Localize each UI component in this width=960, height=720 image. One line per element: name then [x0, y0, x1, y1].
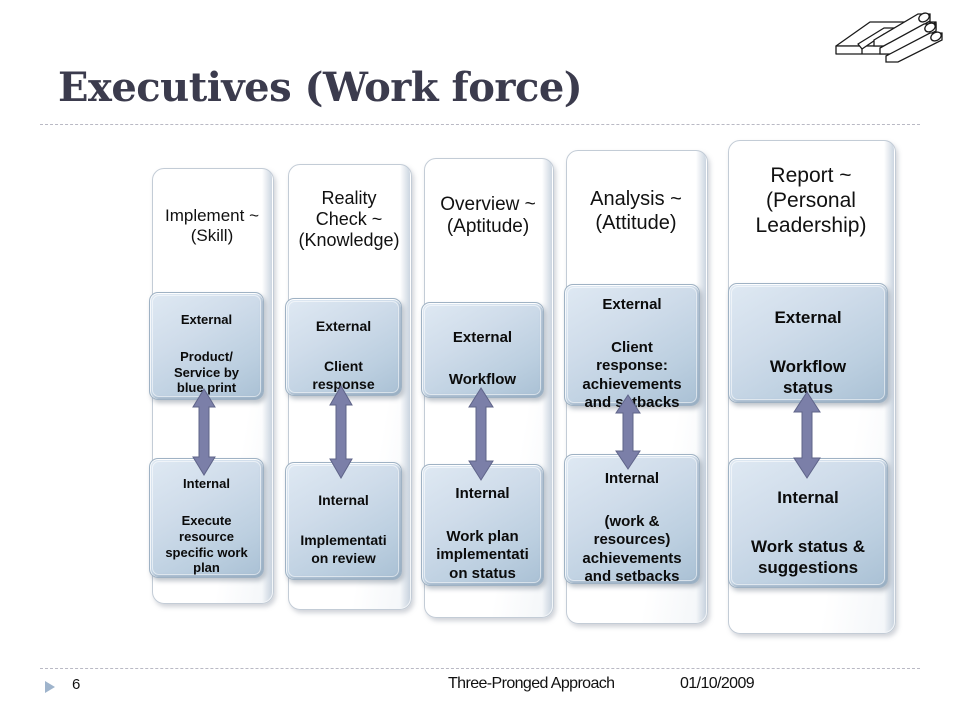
internal-box-overview[interactable]: Internal Work plan implementati on statu…: [421, 464, 544, 586]
internal-body: Execute resource specific work plan: [165, 513, 247, 576]
internal-box-text: Internal Work plan implementati on statu…: [433, 467, 532, 583]
double-headed-vertical-arrow-icon: [467, 386, 495, 482]
column-header-implement: Implement ~ (Skill): [152, 206, 272, 246]
column-header-report: Report ~ (Personal Leadership): [728, 164, 894, 238]
external-box-reality-check[interactable]: External Client response: [285, 298, 402, 396]
footer-divider: [40, 668, 920, 669]
external-box-text: External Workflow status: [767, 288, 849, 399]
external-box-overview[interactable]: External Workflow: [421, 302, 544, 398]
footer-triangle-bullet-icon: [42, 679, 58, 695]
external-lead: External: [770, 308, 846, 329]
external-box-implement[interactable]: External Product/ Service by blue print: [149, 292, 264, 400]
column-overview[interactable]: Overview ~ (Aptitude) External Workflow …: [424, 158, 552, 616]
column-reality-check[interactable]: Reality Check ~ (Knowledge) External Cli…: [288, 164, 410, 608]
footer-center-text: Three-Pronged Approach: [448, 675, 614, 693]
external-box-analysis[interactable]: External Client response: achievements a…: [564, 284, 700, 406]
footer-date: 01/10/2009: [680, 675, 754, 693]
double-headed-vertical-arrow-icon: [191, 387, 217, 477]
internal-body: (work & resources) achievements and setb…: [582, 513, 681, 585]
external-lead: External: [582, 296, 681, 314]
slide: Executives (Work force) Implement ~ (Ski…: [0, 0, 960, 720]
internal-box-analysis[interactable]: Internal (work & resources) achievements…: [564, 454, 700, 584]
internal-box-text: Internal Work status & suggestions: [748, 468, 868, 579]
column-implement[interactable]: Implement ~ (Skill) External Product/ Se…: [152, 168, 272, 602]
column-analysis[interactable]: Analysis ~ (Attitude) External Client re…: [566, 150, 706, 622]
double-headed-vertical-arrow-icon: [614, 393, 642, 471]
double-headed-vertical-arrow-icon: [792, 390, 822, 480]
internal-body: Work status & suggestions: [751, 537, 865, 577]
internal-lead: Internal: [751, 488, 865, 509]
external-box-text: External Client response: [309, 301, 377, 392]
external-lead: External: [312, 318, 374, 335]
internal-lead: Internal: [436, 485, 529, 503]
internal-box-text: Internal (work & resources) achievements…: [579, 452, 684, 586]
internal-body: Implementati on review: [300, 532, 386, 565]
external-box-text: External Product/ Service by blue print: [171, 296, 242, 397]
internal-lead: Internal: [582, 470, 681, 488]
page-number: 6: [72, 676, 80, 693]
external-lead: External: [174, 312, 239, 328]
column-header-analysis: Analysis ~ (Attitude): [566, 188, 706, 235]
external-lead: External: [449, 329, 516, 347]
internal-body: Work plan implementati on status: [436, 528, 529, 582]
column-header-overview: Overview ~ (Aptitude): [424, 194, 552, 239]
column-report[interactable]: Report ~ (Personal Leadership) External …: [728, 140, 894, 632]
internal-lead: Internal: [165, 476, 247, 492]
column-header-reality-check: Reality Check ~ (Knowledge): [288, 188, 410, 252]
internal-lead: Internal: [300, 492, 386, 509]
external-box-report[interactable]: External Workflow status: [728, 283, 888, 403]
internal-box-text: Internal Execute resource specific work …: [162, 460, 250, 576]
internal-box-text: Internal Implementati on review: [297, 475, 389, 566]
external-box-text: External Workflow: [446, 310, 519, 389]
three-pronged-diagram: Implement ~ (Skill) External Product/ Se…: [0, 0, 960, 720]
double-headed-vertical-arrow-icon: [328, 384, 354, 480]
